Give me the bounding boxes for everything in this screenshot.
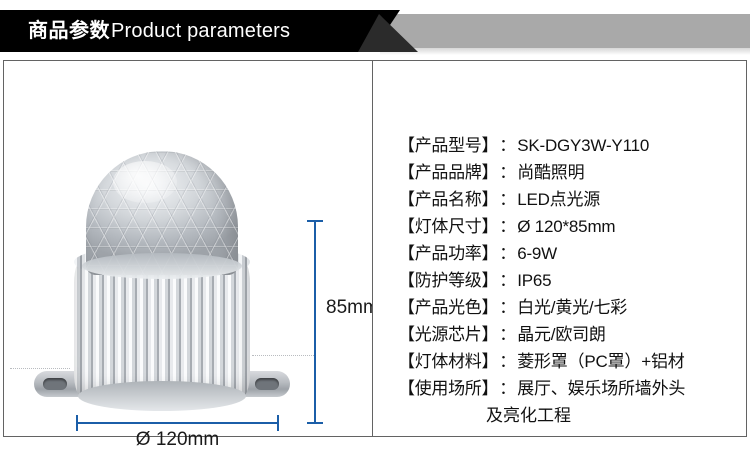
spec-key: 【防护等级】: [398, 266, 498, 291]
spec-row-light-color: 【产品光色】：白光/黄光/七彩: [398, 293, 738, 320]
diameter-dimension-label: Ø 120mm: [76, 429, 279, 451]
page-title-cn: 商品参数: [28, 20, 110, 42]
spec-colon: ：: [498, 185, 517, 210]
dome-base-ring: [82, 253, 242, 279]
spec-row-material: 【灯体材料】：菱形罩（PC罩）+铝材: [398, 347, 738, 374]
spec-key: 【产品型号】: [398, 131, 498, 156]
spec-colon: ：: [498, 347, 517, 372]
spec-value: 晶元/欧司朗: [517, 320, 606, 345]
banner-gray-band: [372, 14, 750, 48]
spec-colon: ：: [498, 266, 517, 291]
spec-key: 【产品品牌】: [398, 158, 498, 183]
spec-row-application-continued: 及亮化工程: [398, 401, 738, 428]
spec-colon: ：: [498, 158, 517, 183]
spec-value: 尚酷照明: [517, 158, 584, 183]
spec-value: Ø 120*85mm: [517, 217, 615, 237]
spec-row-application: 【使用场所】：展厅、娱乐场所墙外头: [398, 374, 738, 401]
spec-row-chip: 【光源芯片】：晶元/欧司朗: [398, 320, 738, 347]
spec-colon: ：: [498, 374, 517, 399]
spec-key: 【灯体尺寸】: [398, 212, 498, 237]
spec-key: 【产品光色】: [398, 293, 498, 318]
heatsink-base: [78, 381, 246, 411]
spec-colon: ：: [498, 239, 517, 264]
dome-highlight: [113, 161, 177, 203]
spec-row-power: 【产品功率】：6-9W: [398, 239, 738, 266]
spec-key: 【产品功率】: [398, 239, 498, 264]
spec-key: 【灯体材料】: [398, 347, 498, 372]
spec-value: 展厅、娱乐场所墙外头: [517, 374, 685, 399]
led-point-light-image: [52, 149, 272, 364]
spec-key: 【使用场所】: [398, 374, 498, 399]
page-title-en: Product parameters: [110, 20, 290, 42]
spec-value: 菱形罩（PC罩）+铝材: [517, 347, 684, 372]
spec-list: 【产品型号】：SK-DGY3W-Y110 【产品品牌】：尚酷照明 【产品名称】：…: [398, 131, 738, 428]
page-title: 商品参数Product parameters: [28, 10, 290, 52]
spec-row-ip-rating: 【防护等级】：IP65: [398, 266, 738, 293]
product-spec-panel: 【产品型号】：SK-DGY3W-Y110 【产品品牌】：尚酷照明 【产品名称】：…: [372, 60, 747, 437]
banner-shadow: [380, 48, 750, 55]
height-dimension-cap-top: [307, 220, 323, 222]
spec-value: IP65: [517, 271, 551, 291]
height-dimension-label: 85mm: [326, 297, 379, 319]
spec-colon: ：: [498, 212, 517, 237]
spec-row-model: 【产品型号】：SK-DGY3W-Y110: [398, 131, 738, 158]
spec-key: 【光源芯片】: [398, 320, 498, 345]
extension-line-left: [10, 368, 70, 370]
mounting-hole-right: [255, 378, 279, 390]
spec-row-size: 【灯体尺寸】：Ø 120*85mm: [398, 212, 738, 239]
spec-colon: ：: [498, 293, 517, 318]
spec-value: 6-9W: [517, 244, 557, 264]
page-header-banner: 商品参数Product parameters: [0, 10, 750, 52]
spec-row-name: 【产品名称】：LED点光源: [398, 185, 738, 212]
height-dimension-line: [314, 220, 316, 424]
product-image-panel: 85mm Ø 120mm: [3, 60, 373, 437]
product-figure: 85mm Ø 120mm: [4, 61, 372, 436]
mounting-hole-left: [43, 378, 67, 390]
spec-key: 【产品名称】: [398, 185, 498, 210]
height-dimension-cap-bottom: [307, 422, 323, 424]
spec-value: SK-DGY3W-Y110: [517, 136, 649, 156]
diameter-dimension-line: [76, 422, 279, 424]
spec-colon: ：: [498, 131, 517, 156]
spec-colon: ：: [498, 320, 517, 345]
extension-line-right: [252, 355, 314, 357]
spec-row-brand: 【产品品牌】：尚酷照明: [398, 158, 738, 185]
spec-value: 白光/黄光/七彩: [517, 293, 627, 318]
spec-value: LED点光源: [517, 185, 600, 210]
